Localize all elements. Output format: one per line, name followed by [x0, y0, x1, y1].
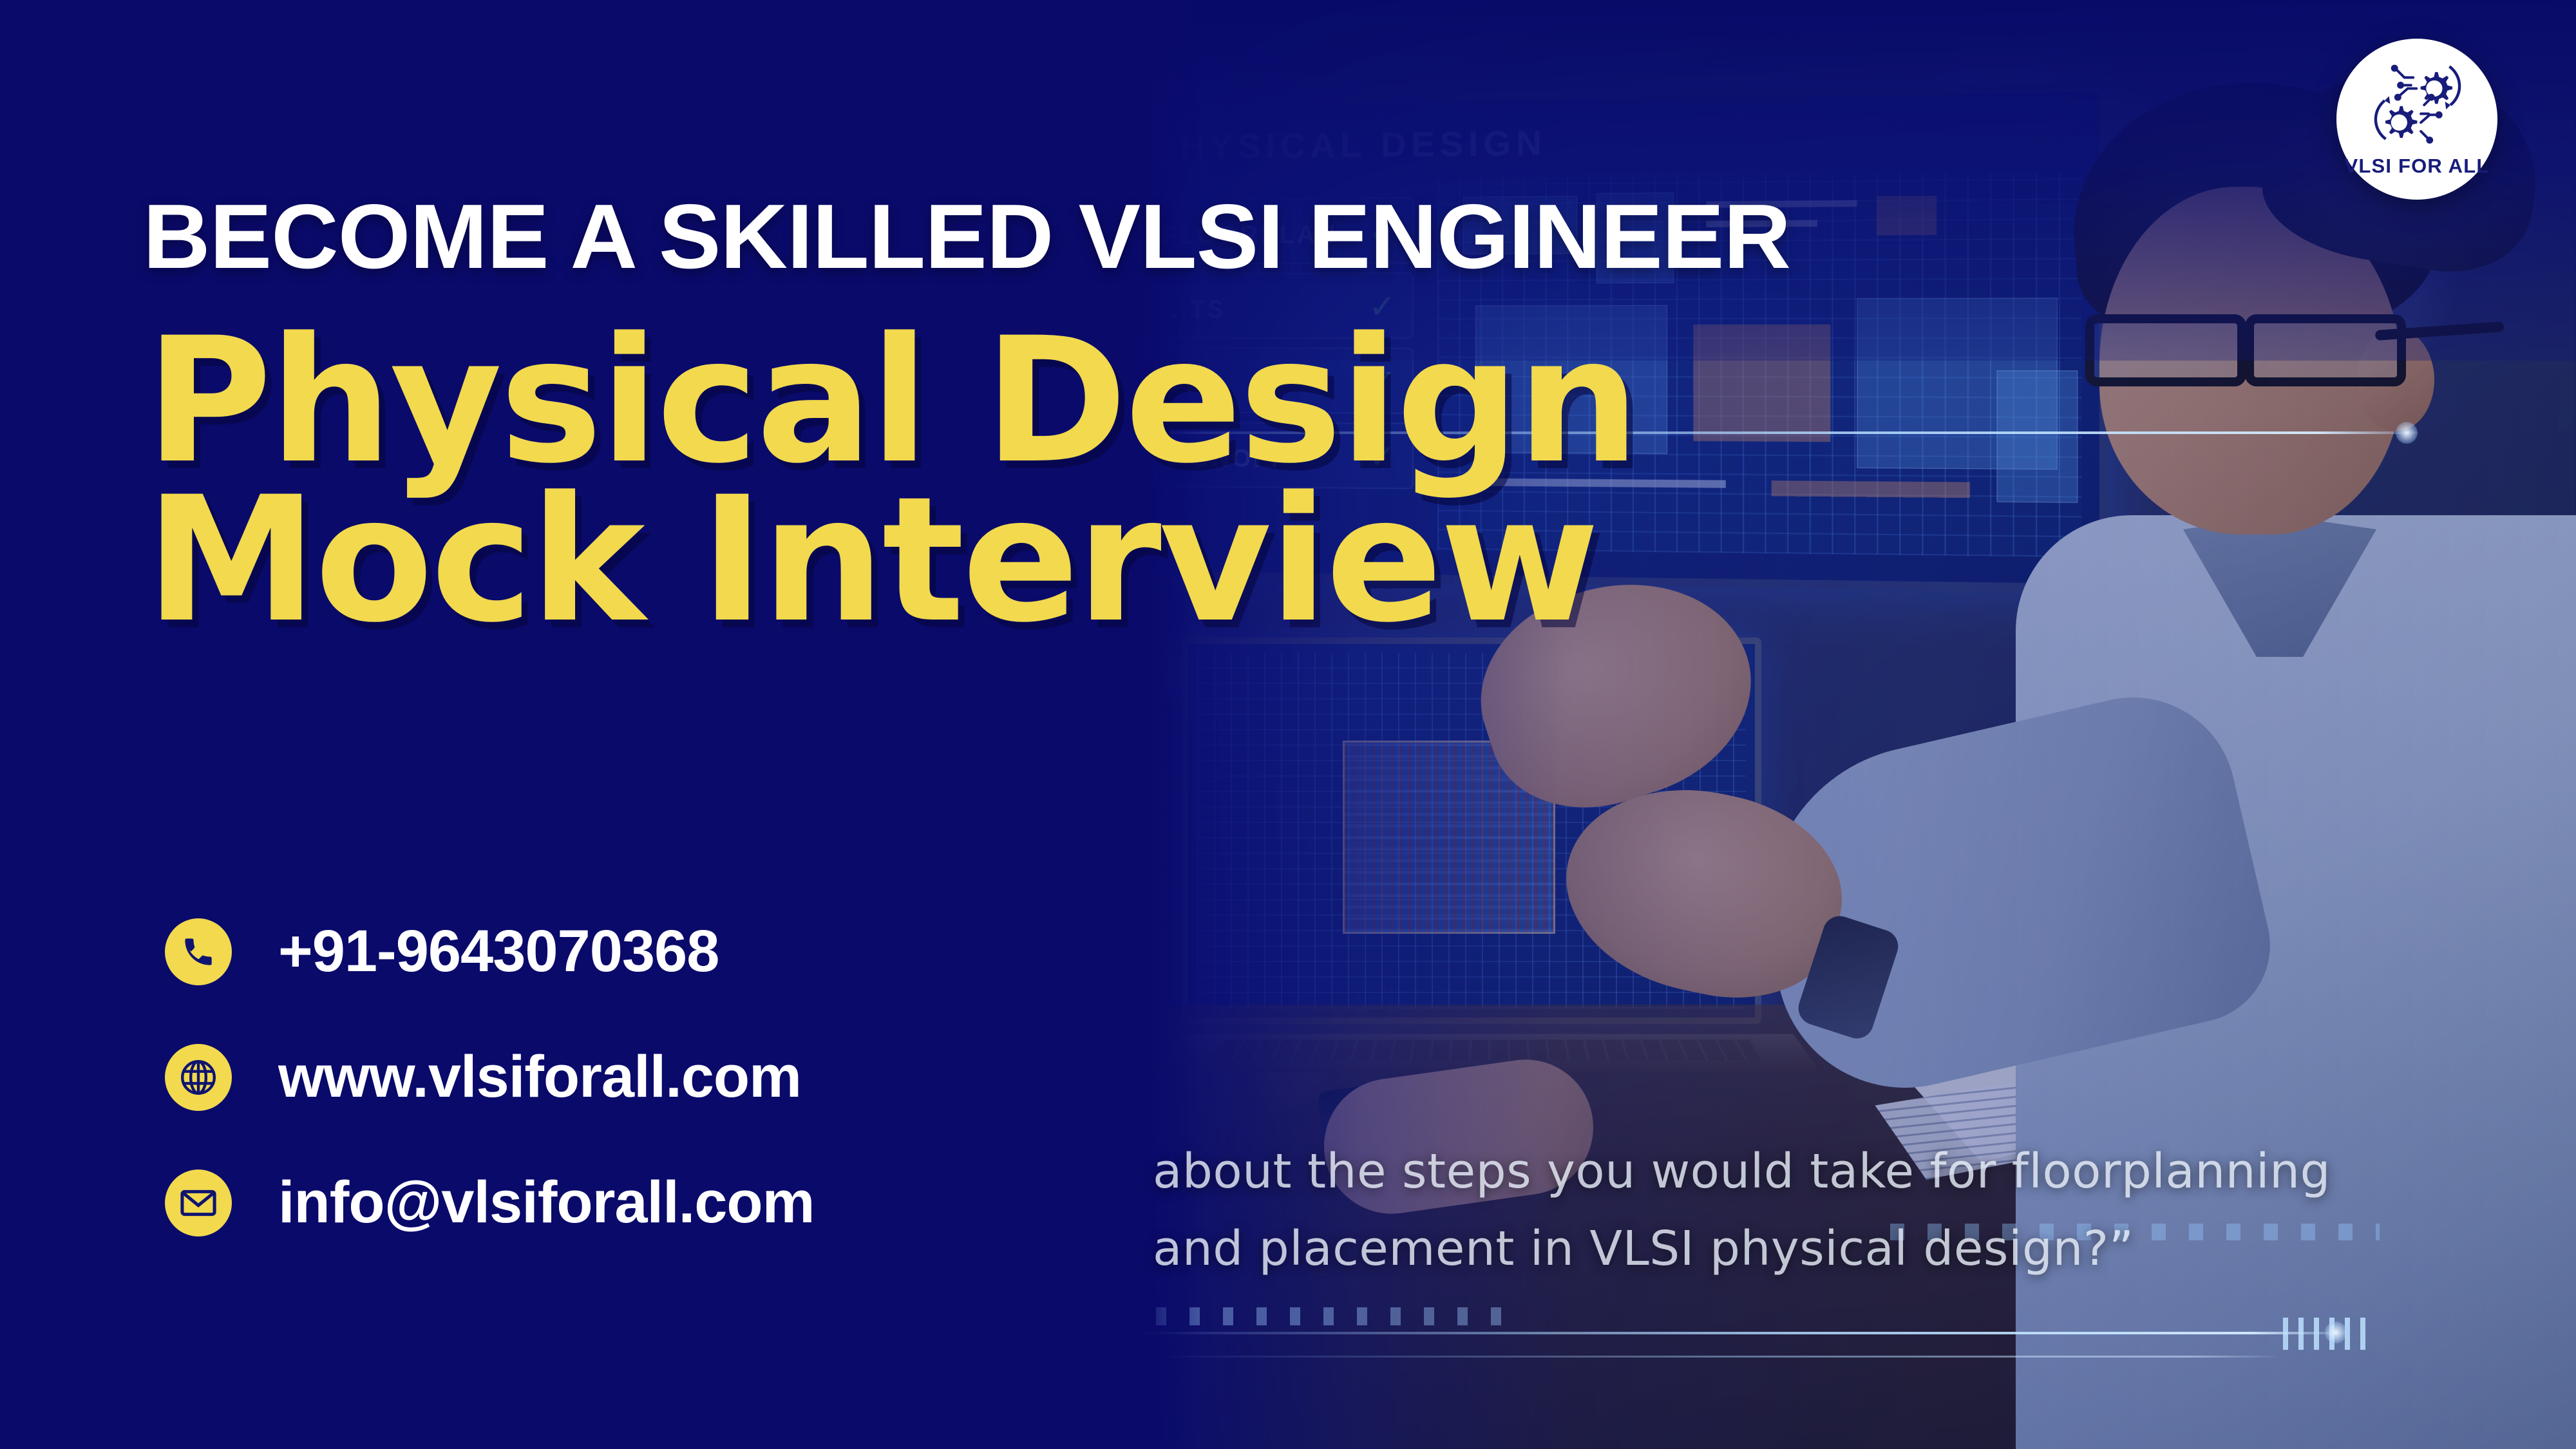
globe-icon [165, 1044, 232, 1111]
contact-row-website[interactable]: www.vlsiforall.com [165, 1014, 1131, 1140]
logo-wordmark: VLSI FOR ALL [2336, 155, 2497, 178]
hero-kicker: BECOME A SKILLED VLSI ENGINEER [143, 184, 1790, 290]
page-title: Physical Design Mock Interview [146, 322, 1884, 639]
brand-logo[interactable]: VLSI FOR ALL [2336, 39, 2497, 200]
contact-row-phone[interactable]: +91-9643070368 [165, 889, 1131, 1014]
envelope-icon [165, 1170, 232, 1236]
gears-circuit-icon [2362, 57, 2473, 153]
hud-dot-bottom [2325, 1321, 2347, 1343]
contact-row-email[interactable]: info@vlsiforall.com [165, 1140, 1131, 1265]
banner-canvas: PHYSICAL DESIGN FLOORPLAN ✓ ...TS ✓ CTS … [0, 0, 2576, 1449]
contact-list: +91-9643070368 www.vlsiforall.com [165, 889, 1131, 1265]
hud-line-bottom-secondary [1169, 1356, 2277, 1358]
hud-dot-top [2396, 422, 2418, 444]
caption-line-2: and placement in VLSI physical design?” [1153, 1211, 2518, 1288]
interview-question-caption: about the steps you would take for floor… [1153, 1133, 2518, 1288]
email-address: info@vlsiforall.com [278, 1169, 814, 1236]
caption-line-1: about the steps you would take for floor… [1153, 1133, 2518, 1211]
hud-tick-marks-left [1156, 1307, 1517, 1325]
hud-line-bottom [1143, 1332, 2347, 1334]
title-line-2: Mock Interview [146, 481, 1884, 640]
phone-icon [165, 918, 232, 985]
website-url: www.vlsiforall.com [278, 1043, 801, 1111]
phone-number: +91-9643070368 [278, 918, 719, 985]
